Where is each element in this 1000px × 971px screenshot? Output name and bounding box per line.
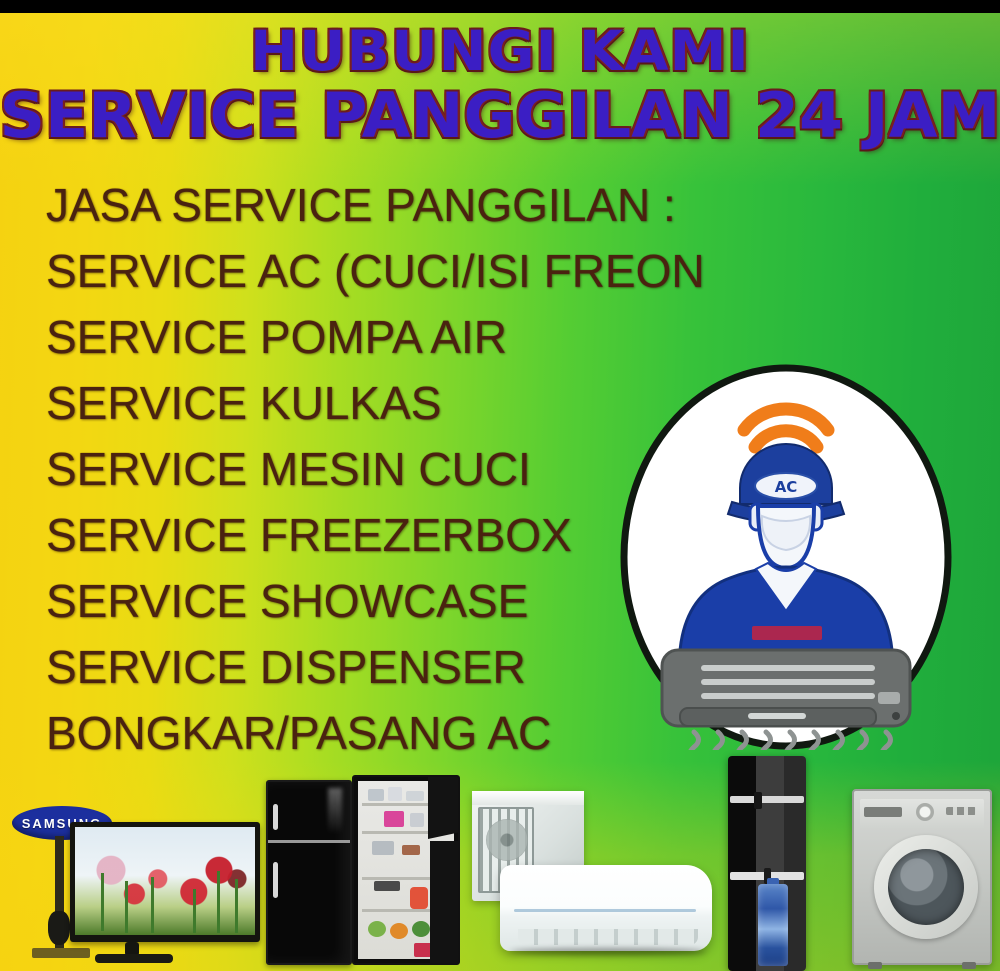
water-dispenser-appliance	[728, 756, 806, 971]
ac-indoor-split-unit-appliance	[500, 865, 712, 951]
service-list: JASA SERVICE PANGGILAN : SERVICE AC (CUC…	[46, 172, 686, 766]
service-list-item-3: SERVICE KULKAS	[46, 370, 686, 436]
headline-block: HUBUNGI KAMI SERVICE PANGGILAN 24 JAM	[0, 24, 1000, 150]
tv-frame	[70, 822, 260, 942]
refrigerator-closed-appliance	[266, 780, 352, 965]
television-appliance: SAMSUNG	[10, 796, 260, 971]
headline-line-1: HUBUNGI KAMI	[0, 24, 1000, 79]
service-list-item-6: SERVICE SHOWCASE	[46, 568, 686, 634]
service-list-item-5: SERVICE FREEZERBOX	[46, 502, 686, 568]
service-list-item-0: JASA SERVICE PANGGILAN :	[46, 172, 686, 238]
water-bottle	[758, 884, 788, 966]
tv-pole-cap	[48, 911, 70, 945]
tv-stand-foot	[95, 954, 173, 963]
service-list-item-4: SERVICE MESIN CUCI	[46, 436, 686, 502]
svg-text:AC: AC	[775, 478, 798, 496]
service-list-item-1: SERVICE AC (CUCI/ISI FREON	[46, 238, 686, 304]
uniform-name-tag	[752, 626, 822, 640]
washing-machine-appliance	[852, 789, 992, 965]
service-list-item-7: SERVICE DISPENSER	[46, 634, 686, 700]
top-black-bar	[0, 0, 1000, 13]
headline-line-2: SERVICE PANGGILAN 24 JAM	[0, 83, 1000, 150]
tv-pole-base	[32, 948, 90, 958]
air-conditioner-icon	[662, 650, 910, 726]
technician-ac-service-badge: AC	[620, 364, 952, 750]
appliance-showcase-row: SAMSUNG	[0, 756, 1000, 971]
service-flyer-poster: HUBUNGI KAMI SERVICE PANGGILAN 24 JAM JA…	[0, 0, 1000, 971]
refrigerator-open-appliance	[352, 775, 460, 965]
tv-screen-flowers	[75, 827, 255, 935]
service-list-item-2: SERVICE POMPA AIR	[46, 304, 686, 370]
